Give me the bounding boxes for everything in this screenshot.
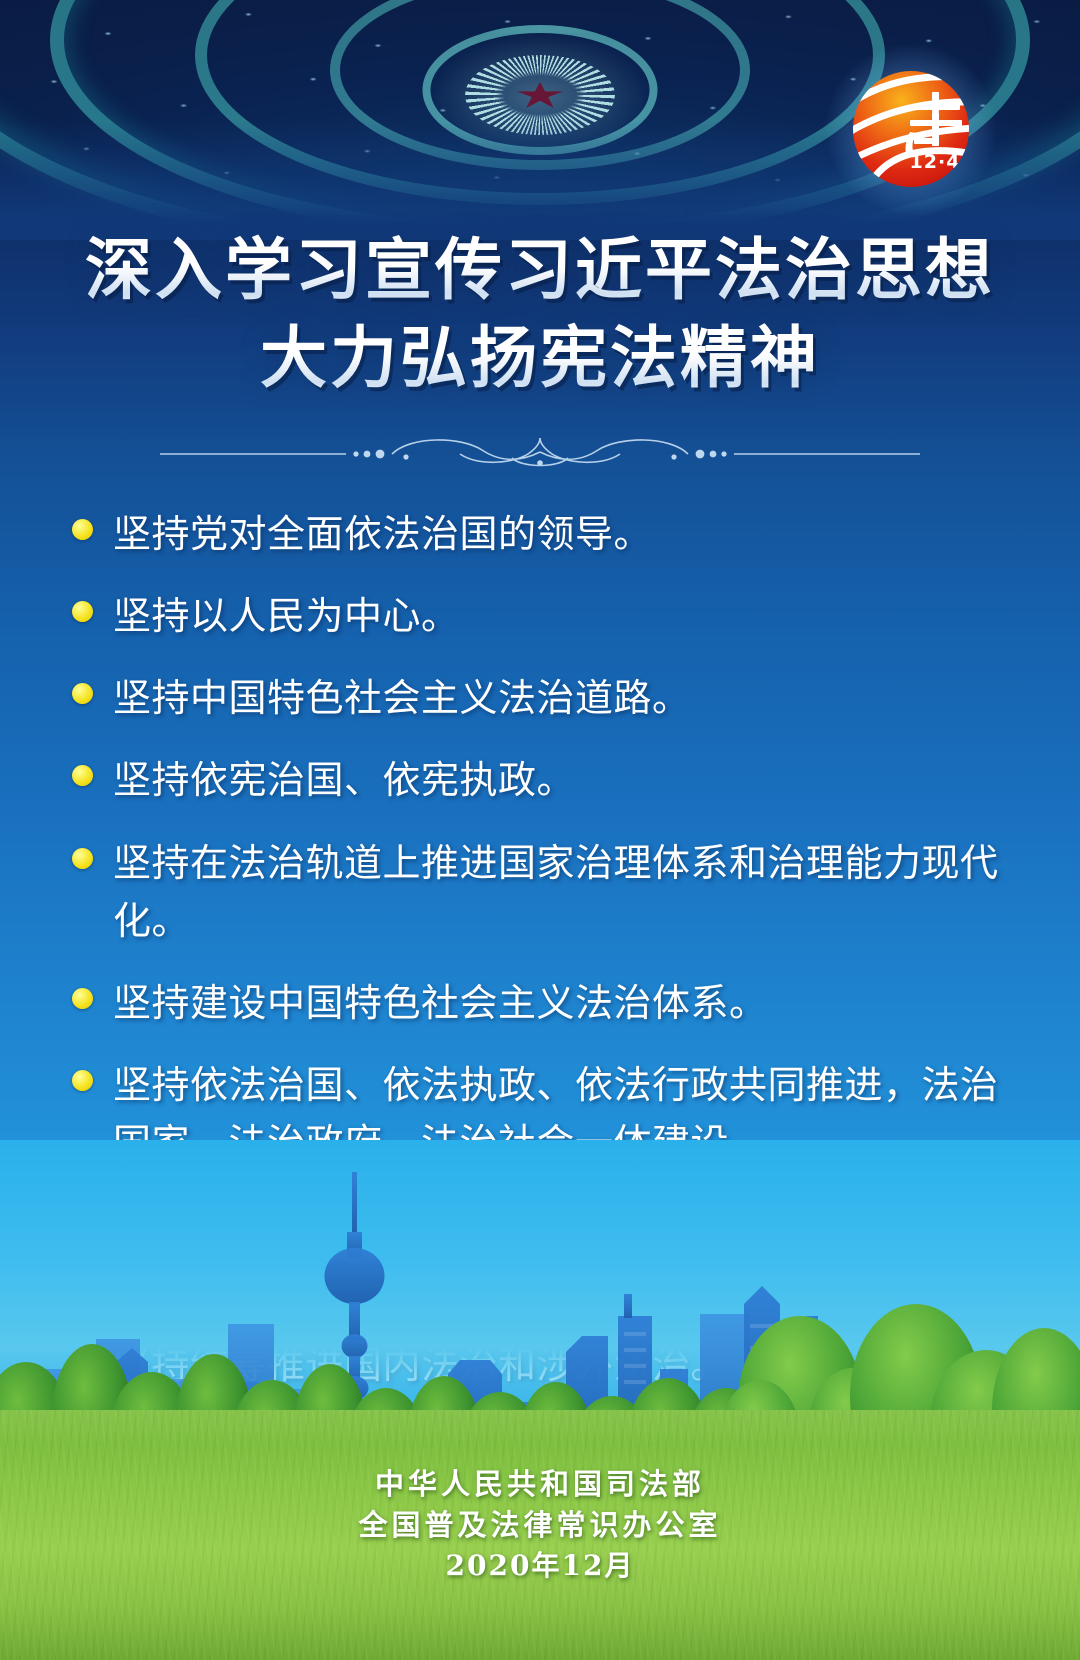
title-line-1: 深入学习宣传习近平法治思想 xyxy=(0,228,1080,312)
list-item: 坚持以人民为中心。 xyxy=(72,587,1012,645)
list-item-text: 坚持中国特色社会主义法治道路。 xyxy=(113,669,691,727)
list-item: 坚持建设中国特色社会主义法治体系。 xyxy=(72,974,1012,1032)
list-item: 坚持中国特色社会主义法治道路。 xyxy=(72,669,1012,727)
list-item: 坚持在法治轨道上推进国家治理体系和治理能力现代化。 xyxy=(72,834,1012,950)
list-item: 坚持党对全面依法治国的领导。 xyxy=(72,505,1012,563)
footer-date: 2020年12月 xyxy=(0,1546,1080,1586)
bullet-icon xyxy=(72,848,93,869)
bullet-icon xyxy=(72,1070,93,1091)
footer-organization-1: 中华人民共和国司法部 xyxy=(0,1464,1080,1505)
constitution-day-emblem-icon: 12·4 xyxy=(850,68,972,190)
bullet-icon xyxy=(72,683,93,704)
list-item: 坚持依宪治国、依宪执政。 xyxy=(72,751,1012,809)
bullet-icon xyxy=(72,601,93,622)
footer: 中华人民共和国司法部 全国普及法律常识办公室 2020年12月 xyxy=(0,1464,1080,1586)
bullet-icon xyxy=(72,519,93,540)
poster-root: 12·4 深入学习宣传习近平法治思想 大力弘扬宪法精神 xyxy=(0,0,1080,1660)
ornamental-flourish-divider-icon xyxy=(0,430,1080,470)
title-line-2: 大力弘扬宪法精神 xyxy=(0,316,1080,400)
emblem-svg: 12·4 xyxy=(850,68,972,190)
bullet-icon xyxy=(72,988,93,1009)
list-item-text: 坚持依宪治国、依宪执政。 xyxy=(113,751,575,809)
footer-organization-2: 全国普及法律常识办公室 xyxy=(0,1505,1080,1546)
list-item-text: 坚持以人民为中心。 xyxy=(113,587,460,645)
svg-text:12·4: 12·4 xyxy=(910,151,961,173)
bullet-icon xyxy=(72,765,93,786)
list-item-text: 坚持党对全面依法治国的领导。 xyxy=(113,505,652,563)
list-item-text: 坚持在法治轨道上推进国家治理体系和治理能力现代化。 xyxy=(113,834,1012,950)
list-item-text: 坚持建设中国特色社会主义法治体系。 xyxy=(113,974,768,1032)
poster-title: 深入学习宣传习近平法治思想 大力弘扬宪法精神 xyxy=(0,228,1080,401)
